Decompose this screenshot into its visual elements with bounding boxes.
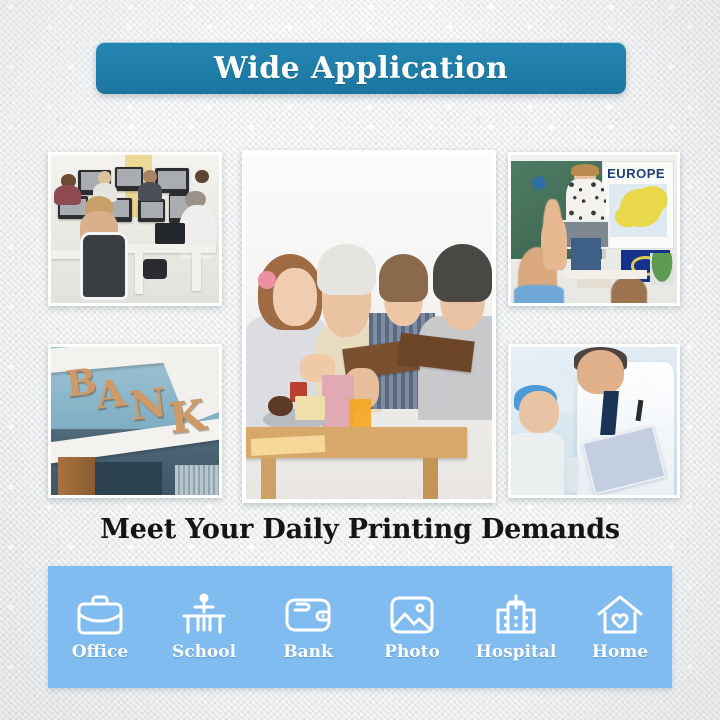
school-photo-scene: EUROPE — [511, 155, 677, 303]
grandmother-hair — [433, 244, 492, 303]
boy-hair — [379, 254, 428, 302]
shoe — [143, 259, 167, 280]
bank-door — [58, 457, 95, 495]
table-leg — [423, 458, 438, 499]
worker-body — [138, 182, 162, 201]
patient-head — [519, 391, 559, 432]
office-chair — [80, 232, 128, 300]
tagline: Meet Your Daily Printing Demands — [0, 514, 720, 545]
bank-photo-scene: B A N K — [51, 347, 219, 495]
classroom-desk — [564, 270, 647, 279]
cake-slice — [295, 396, 325, 420]
page-title: Wide Application — [214, 51, 508, 86]
worker-head — [195, 170, 208, 183]
iv-bottle — [567, 457, 579, 493]
icon-bar-label-office: Office — [72, 642, 128, 662]
europe-map-graphic — [609, 184, 668, 237]
bank-letter: A — [94, 373, 128, 414]
house-heart-icon — [595, 592, 645, 638]
office-photo — [48, 152, 222, 306]
student-raised-hand — [543, 199, 563, 270]
header-banner: Wide Application — [96, 42, 626, 94]
bank-photo: B A N K — [48, 344, 222, 498]
girl-face — [273, 268, 317, 327]
bank-letter: B — [64, 363, 99, 402]
grandfather-hair — [317, 244, 376, 296]
teacher-jeans — [571, 238, 601, 274]
wallet-icon — [283, 592, 333, 638]
icon-bar-item-office[interactable]: Office — [48, 566, 152, 688]
doctor-head — [577, 350, 623, 394]
hospital-building-icon — [491, 592, 541, 638]
potted-plant — [650, 253, 673, 286]
icon-bar-item-home[interactable]: Home — [568, 566, 672, 688]
school-photo: EUROPE — [508, 152, 680, 306]
icon-bar-item-hospital[interactable]: Hospital — [464, 566, 568, 688]
table-paper — [251, 435, 326, 456]
hospital-photo-scene — [511, 347, 677, 495]
family-photo-scene — [246, 154, 492, 499]
student-desk-icon — [179, 592, 229, 638]
monitor — [138, 199, 165, 221]
application-icon-bar: Office School Bank — [48, 566, 672, 688]
europe-map-poster: EUROPE — [602, 161, 674, 249]
icon-bar-label-school: School — [172, 642, 236, 662]
icon-bar-item-bank[interactable]: Bank — [256, 566, 360, 688]
desk — [115, 244, 216, 253]
bank-letter: N — [128, 383, 169, 427]
icon-bar-label-bank: Bank — [283, 642, 333, 662]
bank-entrance-shadow — [95, 462, 162, 495]
book-stack — [577, 279, 610, 288]
patient-gown — [511, 433, 564, 495]
student-head-back — [611, 276, 648, 303]
table-leg — [261, 458, 276, 499]
icon-bar-item-school[interactable]: School — [152, 566, 256, 688]
europe-poster-label: EUROPE — [607, 166, 665, 181]
student-shirt — [514, 285, 564, 303]
desk-leg — [192, 253, 200, 291]
office-photo-scene — [51, 155, 219, 303]
bank-window-blinds — [175, 465, 219, 495]
worker-body — [54, 185, 81, 206]
chocolate-donut — [268, 396, 293, 417]
icon-bar-label-photo: Photo — [384, 642, 440, 662]
girl-hair-flower — [258, 271, 275, 288]
icon-bar-item-photo[interactable]: Photo — [360, 566, 464, 688]
desk-leg — [135, 253, 143, 294]
briefcase-icon — [75, 592, 125, 638]
image-icon — [387, 592, 437, 638]
family-photo — [242, 150, 496, 503]
desk-phone — [155, 223, 185, 244]
icon-bar-label-home: Home — [592, 642, 648, 662]
bank-letter: K — [166, 394, 207, 440]
teacher-hair — [571, 164, 599, 176]
icon-bar-label-hospital: Hospital — [476, 642, 557, 662]
hospital-photo — [508, 344, 680, 498]
